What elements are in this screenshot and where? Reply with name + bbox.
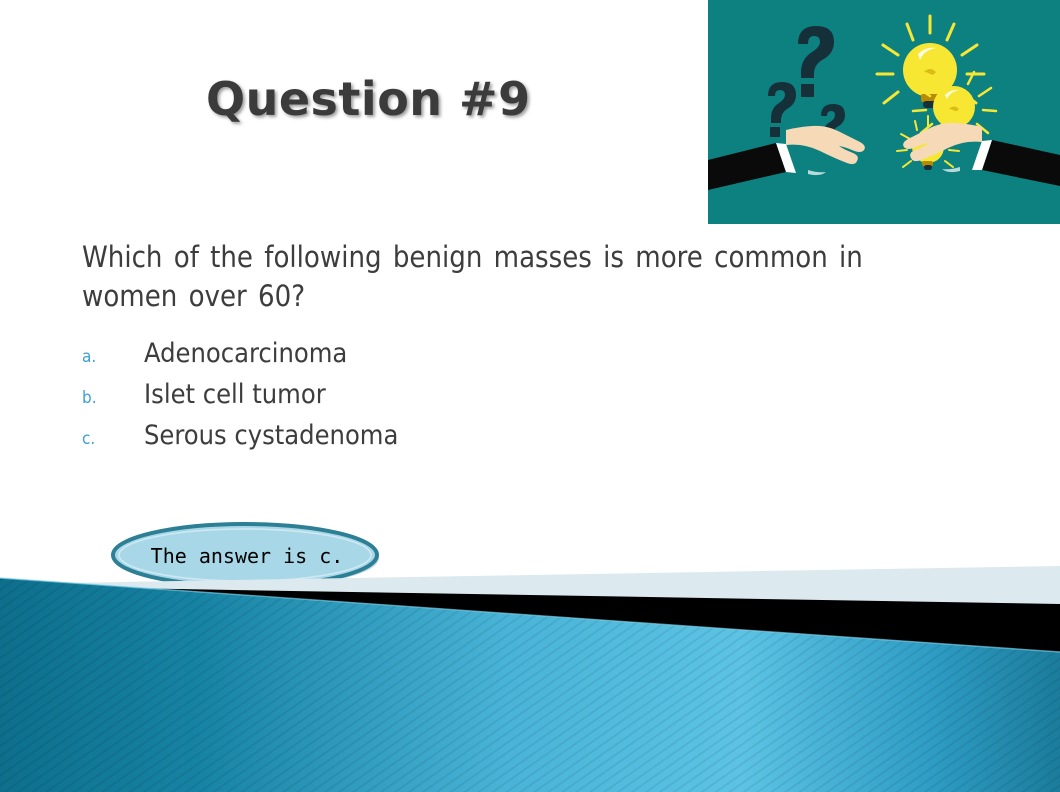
list-item[interactable]: a. Adenocarcinoma (82, 338, 682, 379)
question-text: Which of the following benign masses is … (82, 238, 927, 315)
list-item[interactable]: c. Serous cystadenoma (82, 420, 682, 461)
option-label: Serous cystadenoma (144, 420, 398, 451)
page-title: Question #9 (206, 72, 531, 126)
option-marker: b. (82, 388, 144, 408)
option-marker: c. (82, 429, 144, 449)
illustration-background (708, 0, 1060, 224)
answer-options-list: a. Adenocarcinoma b. Islet cell tumor c.… (82, 338, 682, 461)
option-label: Adenocarcinoma (144, 338, 347, 369)
list-item[interactable]: b. Islet cell tumor (82, 379, 682, 420)
presentation-slide: Question #9 Which of the following benig… (0, 0, 1060, 792)
question-illustration-image (708, 0, 1060, 224)
option-marker: a. (82, 347, 144, 367)
bottom-decoration (0, 540, 1060, 792)
option-label: Islet cell tumor (144, 379, 326, 410)
